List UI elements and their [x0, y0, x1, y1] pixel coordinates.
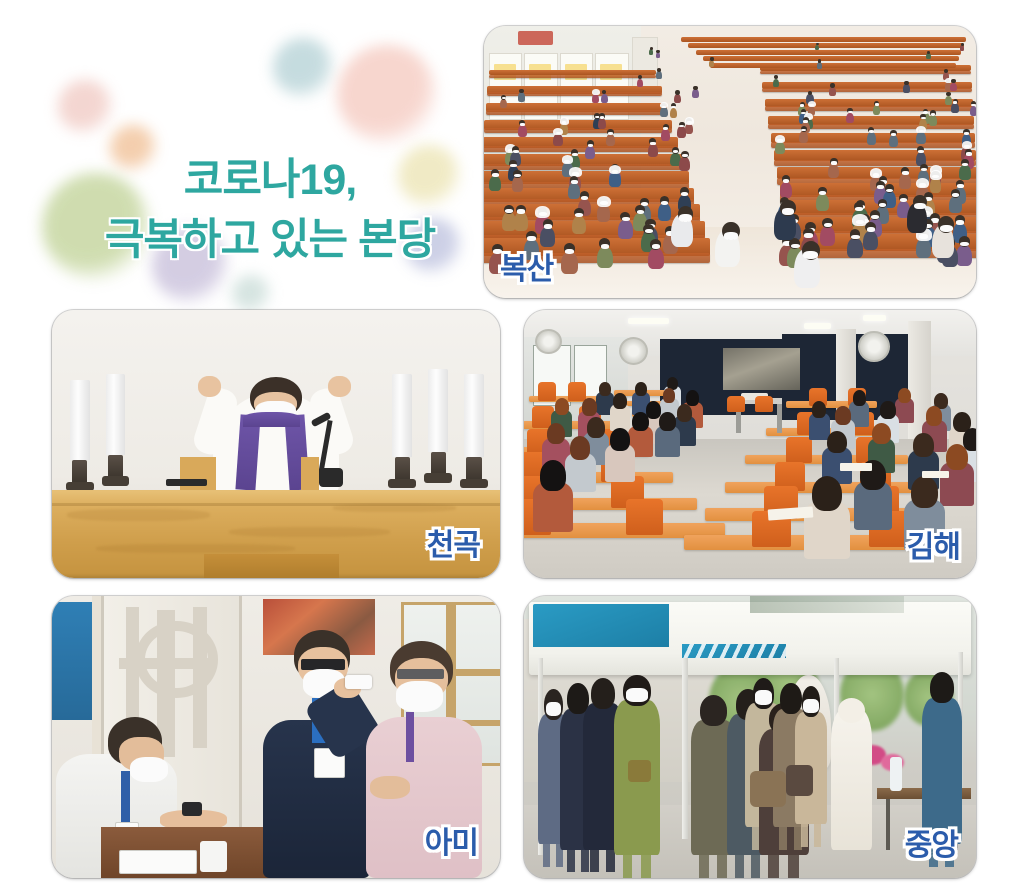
candle-holder: [395, 457, 410, 481]
person-body: [518, 125, 527, 137]
handbag: [750, 771, 786, 808]
head-veil: [597, 196, 611, 207]
chair-centre: [755, 396, 773, 412]
person-head-back: [911, 476, 938, 508]
head-veil: [560, 117, 569, 124]
face-mask: [782, 208, 794, 215]
person-body: [846, 113, 854, 124]
person-head: [944, 69, 948, 73]
person-head: [818, 59, 822, 62]
person-head-back: [926, 406, 942, 425]
person-head: [927, 51, 930, 54]
photo-caption-jungang: 중앙: [905, 820, 958, 864]
face-mask: [902, 171, 908, 174]
photo-boksan: [484, 26, 976, 298]
face-mask: [819, 191, 826, 195]
person-body: [959, 165, 970, 180]
person-head: [830, 83, 835, 87]
candle-base: [460, 479, 488, 488]
person-head-back: [898, 388, 911, 403]
person-body: [500, 99, 507, 109]
person-body: [512, 176, 524, 192]
face-mask: [803, 120, 808, 123]
person-head: [961, 43, 964, 46]
person-body: [773, 79, 779, 87]
candle-base: [102, 476, 130, 485]
handbag: [786, 765, 813, 796]
person-body: [916, 132, 925, 144]
face-mask: [581, 196, 588, 200]
person-body: [780, 182, 792, 198]
person-head-back: [570, 436, 590, 460]
photo-caption-gimhae: 김해: [907, 522, 960, 566]
person-body: [926, 53, 931, 59]
person-body: [518, 92, 525, 101]
person-body: [656, 52, 661, 58]
face-mask: [608, 132, 613, 135]
person-body: [815, 45, 819, 50]
photo-card-ami[interactable]: 아미: [52, 596, 500, 878]
person-head-back: [913, 433, 933, 457]
person-body: [597, 247, 613, 268]
candle: [464, 374, 484, 457]
person-body: [670, 108, 678, 118]
face-mask: [940, 225, 953, 232]
page-title-text: 코로나19, 극복하고 있는 본당: [105, 156, 435, 263]
page-title: 코로나19, 극복하고 있는 본당: [70, 92, 470, 270]
face-mask: [527, 236, 536, 241]
person-body: [873, 105, 881, 115]
person-head-back: [946, 444, 968, 470]
person-body: [606, 134, 615, 146]
person-head-back: [547, 423, 565, 445]
pew-left-seat: [484, 128, 672, 133]
face-mask: [626, 688, 648, 702]
person-head: [591, 678, 615, 709]
head-veil: [775, 135, 785, 143]
head-veil: [685, 117, 694, 124]
chair-left: [626, 499, 662, 535]
person-body: [820, 226, 835, 245]
pew-far: [688, 43, 964, 48]
person-body: [648, 144, 658, 157]
face-mask: [803, 699, 818, 713]
pew-right-seat: [774, 160, 976, 166]
leg: [699, 855, 709, 878]
pew-right-seat: [760, 71, 972, 74]
chair-right: [786, 437, 812, 463]
pew-right-seat: [762, 88, 972, 92]
av-cart-leg: [777, 404, 782, 433]
person-head: [700, 695, 727, 726]
face-mask: [914, 203, 926, 209]
photo-caption-ami: 아미: [425, 818, 478, 862]
candle: [106, 374, 126, 454]
person-head-back: [635, 382, 647, 396]
person-head-back: [677, 404, 692, 422]
face-mask: [679, 214, 692, 221]
person-head-back: [812, 401, 826, 417]
face-mask: [791, 244, 800, 249]
leg: [779, 827, 787, 850]
person-body: [949, 196, 962, 213]
person-body: [889, 135, 898, 147]
person-head: [656, 50, 659, 53]
person-head-back: [540, 460, 566, 491]
blob-mint-bottom: [232, 275, 270, 313]
person-body: [709, 60, 714, 67]
person-body: [660, 107, 668, 117]
face-mask: [869, 130, 874, 133]
face-mask: [966, 152, 972, 155]
head-veil: [808, 101, 816, 107]
face-mask: [601, 244, 610, 249]
person-body: [903, 84, 909, 92]
face-mask: [960, 242, 969, 247]
person-body: [648, 248, 664, 269]
waist-pouch: [628, 760, 651, 783]
leg: [801, 824, 808, 847]
poster-page: 코로나19, 극복하고 있는 본당 복산: [0, 0, 1024, 894]
person-head: [710, 57, 713, 60]
person-head-back: [632, 412, 648, 431]
person-body: [951, 103, 959, 113]
book: [840, 463, 872, 471]
person-head: [519, 89, 524, 94]
pew-left-seat: [489, 75, 656, 78]
face-mask: [510, 164, 516, 167]
candle: [70, 380, 90, 460]
head-veil: [916, 126, 926, 134]
person-head: [930, 672, 954, 703]
person-body: [572, 216, 586, 235]
person-head: [951, 79, 955, 83]
person-body: [950, 83, 956, 91]
face-mask: [855, 207, 863, 211]
face-mask: [544, 224, 552, 228]
chair-left: [538, 382, 556, 401]
person-head-back: [663, 388, 676, 403]
person-body: [618, 220, 632, 239]
photo-caption-boksan: 복산: [500, 244, 553, 288]
person-head-back: [659, 412, 675, 431]
head-veil: [916, 178, 929, 188]
person-head-back: [872, 423, 890, 445]
face-mask: [953, 101, 957, 103]
face-mask: [851, 235, 860, 240]
leg: [735, 855, 744, 878]
person-body: [568, 183, 580, 199]
person-body: [956, 245, 972, 266]
book: [922, 471, 949, 478]
person-body: [674, 94, 681, 103]
person-body: [658, 203, 671, 221]
person-body: [775, 142, 785, 155]
face-mask: [588, 144, 594, 147]
person-head: [675, 90, 680, 95]
face-mask: [957, 184, 964, 188]
pew-right-seat: [765, 106, 973, 111]
head-veil: [660, 102, 668, 108]
leg: [543, 844, 550, 867]
person-head-back: [587, 417, 604, 438]
face-mask: [804, 233, 813, 238]
leg: [590, 850, 599, 873]
face-mask: [900, 198, 907, 202]
face-mask: [661, 201, 668, 205]
face-mask: [971, 104, 975, 106]
person-body: [828, 164, 839, 179]
person-body: [561, 252, 577, 274]
person-head-back: [853, 390, 866, 405]
face-mask: [848, 111, 852, 113]
pew-far: [703, 56, 959, 61]
person-head: [650, 47, 653, 50]
face-mask: [517, 209, 525, 213]
person-head-back: [555, 398, 569, 414]
person-body: [598, 118, 606, 129]
head-veil: [962, 141, 973, 149]
pew-far: [696, 50, 962, 55]
photo-card-jungang[interactable]: 중앙: [524, 596, 976, 878]
person-body: [677, 126, 686, 138]
blob-teal-top: [273, 38, 333, 98]
face-mask: [956, 220, 964, 224]
leg: [581, 850, 589, 873]
face-mask: [921, 117, 926, 120]
leg: [814, 824, 821, 847]
person-body: [601, 94, 608, 103]
photo-card-cheongok[interactable]: 천곡: [52, 310, 500, 578]
person-body: [592, 94, 599, 103]
person-body: [817, 62, 822, 69]
person-body: [649, 49, 653, 55]
face-mask: [918, 150, 924, 153]
person-head-back: [880, 401, 895, 419]
head-veil: [930, 170, 942, 180]
face-mask: [650, 142, 655, 145]
leg: [751, 855, 760, 878]
face-mask: [724, 232, 738, 240]
leg: [768, 855, 779, 878]
candle: [392, 374, 412, 457]
person-body: [514, 212, 528, 230]
leg: [567, 850, 575, 873]
person-body: [929, 115, 937, 126]
person-body: [661, 129, 670, 141]
person-head-back: [582, 398, 597, 415]
candle-base: [424, 473, 452, 482]
person-body: [692, 89, 699, 98]
person-body: [553, 134, 562, 146]
photo-caption-cheongok: 천곡: [427, 520, 480, 564]
person-body: [863, 231, 878, 251]
person-body: [867, 132, 876, 144]
face-mask: [513, 150, 519, 153]
person-body: [899, 174, 911, 189]
person-body: [679, 157, 690, 171]
head-veil: [609, 165, 621, 175]
face-mask: [831, 161, 837, 164]
pew-left-seat: [486, 110, 667, 115]
chair-centre: [727, 396, 745, 412]
person-body: [829, 87, 836, 96]
person-head-back: [610, 428, 629, 451]
person-body: [609, 172, 621, 187]
photo-card-boksan[interactable]: 복산: [484, 26, 976, 298]
head-veil: [592, 89, 599, 95]
person-head: [904, 81, 908, 85]
person-head: [693, 86, 698, 90]
face-mask: [931, 113, 936, 115]
chair-left: [568, 382, 586, 401]
candle-base: [388, 479, 416, 488]
face-mask: [921, 168, 927, 171]
face-mask: [877, 185, 884, 189]
person-head-back: [613, 393, 627, 409]
person-body: [970, 106, 976, 116]
face-mask: [520, 123, 525, 126]
leg: [623, 855, 633, 878]
pillar: [632, 37, 659, 93]
pew-far: [681, 37, 966, 42]
face-mask: [565, 249, 574, 254]
face-mask: [637, 210, 645, 214]
person-head-back: [827, 431, 846, 454]
person-head-back: [835, 406, 851, 424]
person-body: [637, 79, 643, 87]
head-veil: [535, 206, 550, 218]
person-body: [847, 238, 862, 258]
candle: [428, 369, 448, 452]
pew-far: [710, 63, 956, 68]
photo-card-gimhae[interactable]: 김해: [524, 310, 976, 578]
face-mask: [571, 180, 578, 184]
head-veil: [562, 155, 573, 164]
face-mask: [622, 217, 630, 221]
person-body: [656, 71, 662, 78]
leg: [641, 855, 651, 878]
person-head-back: [812, 476, 842, 511]
person-body: [799, 131, 808, 143]
face-mask: [681, 192, 688, 196]
pew-left-seat: [487, 92, 661, 96]
candle-holder: [72, 460, 87, 484]
face-mask: [783, 179, 790, 183]
person-head-back: [599, 382, 611, 396]
face-mask: [575, 213, 583, 217]
face-mask: [572, 153, 578, 156]
face-mask: [492, 173, 499, 177]
head-veil: [553, 128, 563, 136]
leg: [788, 855, 799, 878]
face-mask: [755, 690, 772, 704]
person-body: [585, 146, 595, 159]
candle-holder: [466, 457, 481, 481]
face-mask: [867, 227, 875, 231]
person-head: [816, 43, 819, 46]
face-mask: [891, 133, 896, 136]
person-body: [489, 176, 501, 192]
person-body: [960, 45, 964, 50]
leg: [717, 855, 727, 878]
person-head: [780, 683, 802, 714]
face-mask: [546, 702, 561, 716]
face-mask: [600, 116, 605, 119]
face-mask: [875, 103, 879, 105]
person-body: [816, 194, 829, 211]
